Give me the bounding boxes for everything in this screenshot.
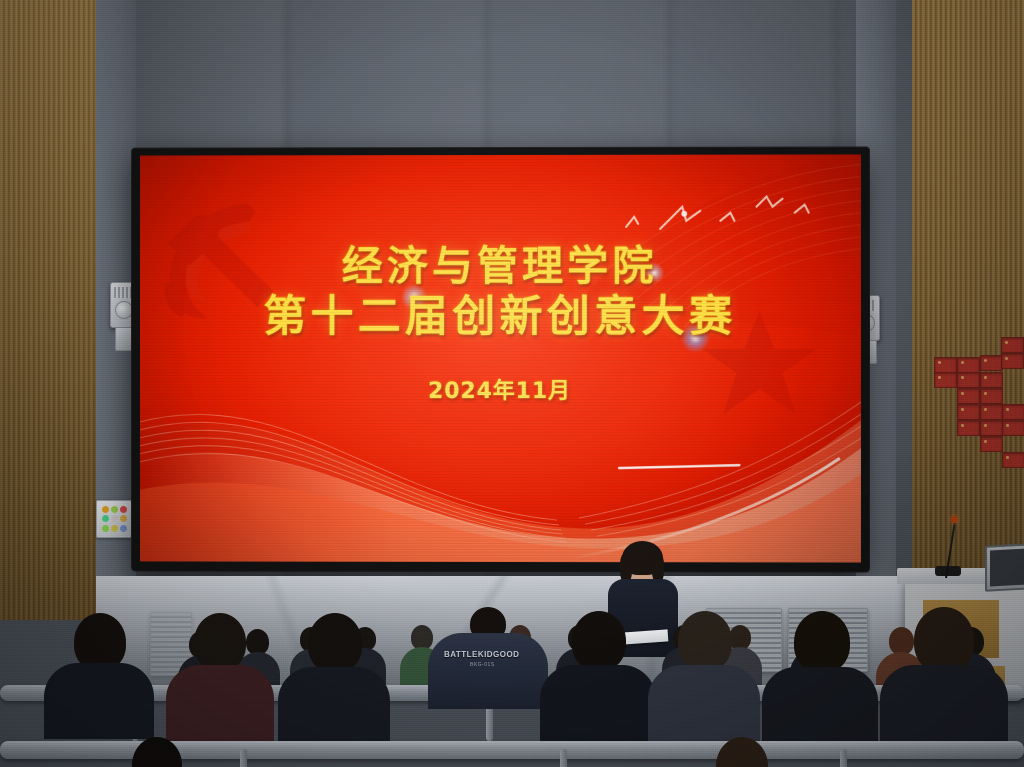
audience-member-front — [166, 613, 274, 737]
speaker-knob-icon[interactable] — [115, 301, 133, 319]
slide-title-line2: 第十二届创新创意大赛 — [140, 291, 861, 344]
jacket-brand-text: BATTLEKIDGOOD — [444, 650, 519, 659]
slide-title-line1: 经济与管理学院 — [140, 241, 861, 292]
av-control-panel[interactable] — [96, 500, 132, 538]
audience-member-front — [278, 613, 390, 741]
audience-member-front — [880, 607, 1008, 753]
led-display-screen[interactable]: 经济与管理学院 第十二届创新创意大赛 2024年11月 — [132, 147, 869, 571]
speaker-grille-icon — [114, 287, 134, 298]
bench-leg — [240, 749, 247, 767]
audience-member-foreground — [108, 737, 204, 767]
audience-member-front — [648, 611, 760, 745]
bench-leg — [840, 749, 847, 767]
lecture-hall-photo: 经济与管理学院 第十二届创新创意大赛 2024年11月 — [0, 0, 1024, 767]
microphone-head-icon — [951, 516, 958, 523]
slide-date: 2024年11月 — [140, 373, 861, 405]
control-indicator-lights — [102, 506, 126, 532]
audience-member-front — [762, 611, 878, 747]
audience-member-foreground — [690, 737, 794, 767]
bench-leg — [560, 749, 567, 767]
audience-member-jacket — [428, 613, 548, 705]
audience-area: BATTLEKIDGOOD BKG-01S — [0, 567, 1024, 767]
slide-canvas: 经济与管理学院 第十二届创新创意大赛 2024年11月 — [140, 154, 861, 562]
slide-text-block: 经济与管理学院 第十二届创新创意大赛 2024年11月 — [140, 241, 861, 406]
jacket-brand-subtext: BKG-01S — [470, 662, 495, 668]
audience-member-front — [540, 611, 656, 743]
wood-panel-left — [0, 0, 100, 620]
audience-member-front — [44, 613, 154, 733]
wood-panel-right — [912, 0, 1024, 620]
